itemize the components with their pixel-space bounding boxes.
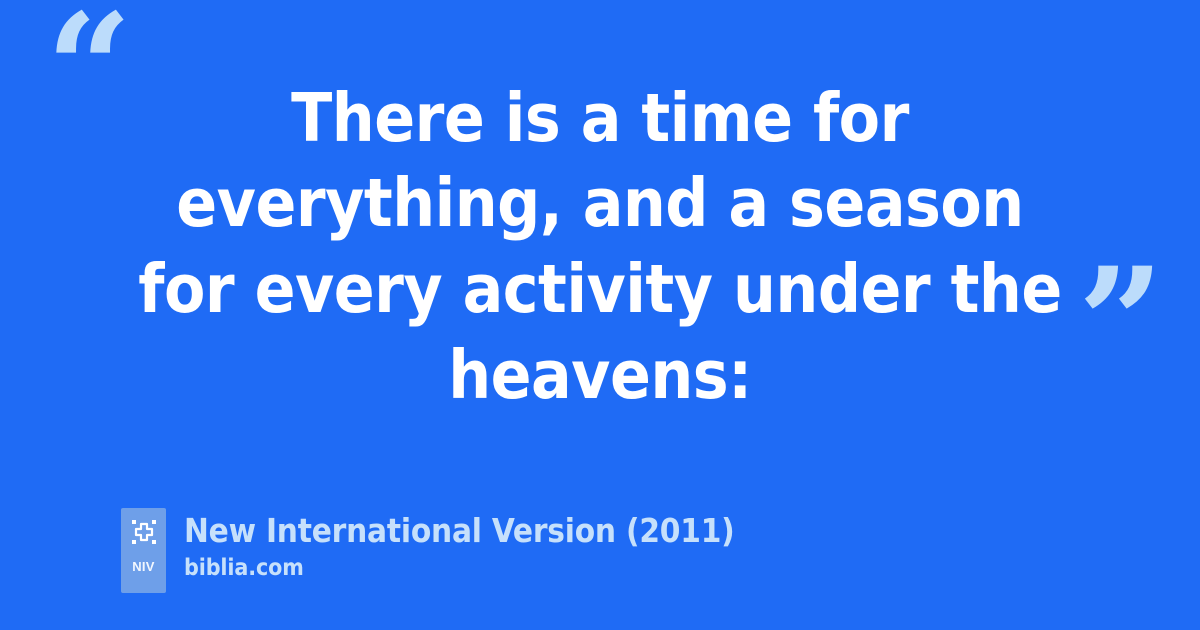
quote-text-block: There is a time for everything, and a se… (130, 52, 1070, 442)
bible-version-name: New International Version (2011) (184, 512, 735, 550)
version-badge: NIV (121, 508, 166, 593)
site-name[interactable]: biblia.com (184, 555, 735, 581)
verse-card: “ There is a time for everything, and a … (0, 0, 1200, 630)
open-quote-icon: “ (46, 0, 128, 144)
attribution: NIV New International Version (2011) bib… (121, 508, 735, 593)
cross-with-corner-handles-icon (132, 520, 156, 544)
close-quote-icon: ” (1078, 248, 1160, 398)
quote-text: There is a time for everything, and a se… (130, 76, 1070, 419)
attribution-text: New International Version (2011) biblia.… (184, 508, 735, 581)
version-abbreviation: NIV (132, 560, 155, 573)
